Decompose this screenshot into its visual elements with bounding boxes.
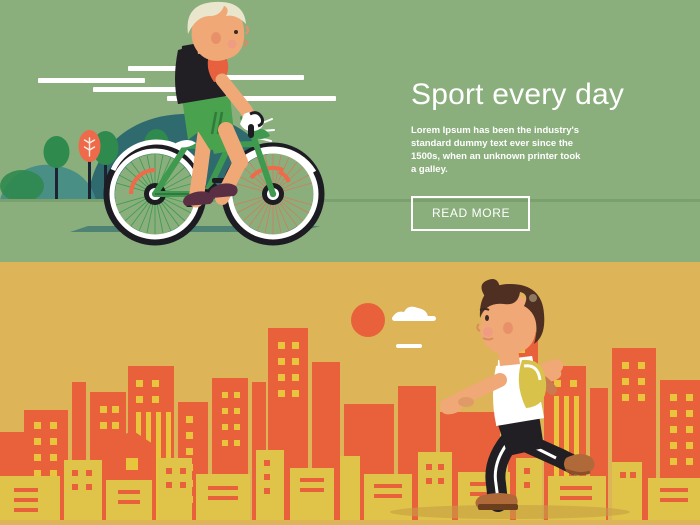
page-title-sport: Sport every day bbox=[411, 78, 661, 112]
sun bbox=[351, 303, 385, 337]
banner-sport: Sport every day Lorem Ipsum has been the… bbox=[0, 0, 700, 262]
rider-ear bbox=[211, 32, 221, 44]
rider-cheek bbox=[228, 40, 237, 49]
body-text-sport: Lorem Ipsum has been the industry's stan… bbox=[411, 124, 583, 176]
rider-eye bbox=[234, 30, 238, 34]
runner-illustration bbox=[0, 262, 700, 525]
banner-recreation: Recreation Lorem Ipsum has been the indu… bbox=[0, 262, 700, 525]
runner-ear bbox=[503, 322, 513, 334]
runner-cheek bbox=[483, 327, 493, 337]
sport-copy-block: Sport every day Lorem Ipsum has been the… bbox=[411, 78, 661, 231]
runner-eye bbox=[485, 315, 489, 321]
promo-banners-page: Sport every day Lorem Ipsum has been the… bbox=[0, 0, 700, 525]
runner-eyebrow bbox=[480, 309, 489, 310]
hair-highlight bbox=[529, 294, 537, 302]
read-more-button-sport[interactable]: READ MORE bbox=[411, 196, 530, 231]
